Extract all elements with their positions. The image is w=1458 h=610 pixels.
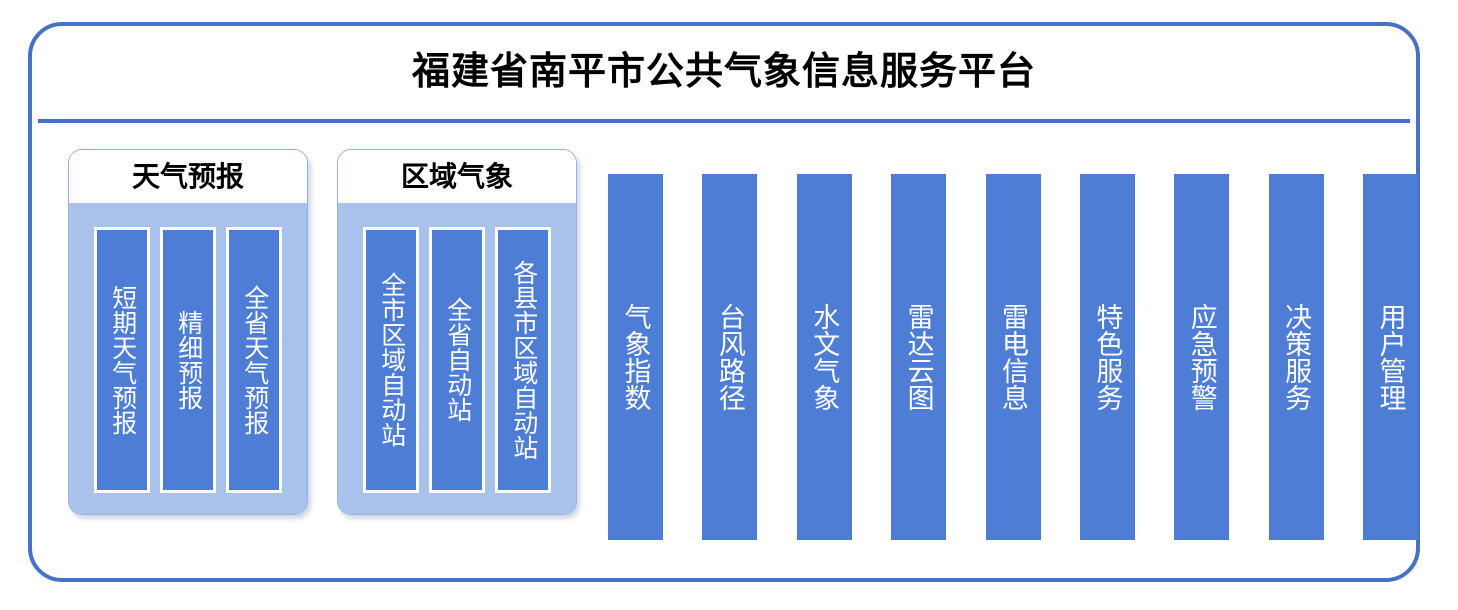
sub-module-label: 全省天气预报 [241, 285, 267, 435]
modules-row: 天气预报 短期天气预报 精细预报 全省天气预报 区域气象 全市区域自动站 [32, 123, 1416, 582]
module-bar-decision-service[interactable]: 决策服务 [1269, 174, 1324, 540]
group-body-weather-forecast: 短期天气预报 精细预报 全省天气预报 [69, 203, 307, 515]
module-label: 特色服务 [1093, 303, 1121, 411]
sub-module-label: 短期天气预报 [109, 285, 135, 435]
module-label: 决策服务 [1282, 303, 1310, 411]
module-label: 台风路径 [716, 303, 744, 411]
sub-module-county-auto-station[interactable]: 各县市区域自动站 [495, 227, 551, 493]
module-bar-user-management[interactable]: 用户管理 [1363, 174, 1418, 540]
group-body-regional-meteorology: 全市区域自动站 全省自动站 各县市区域自动站 [338, 203, 576, 515]
group-title-regional-meteorology: 区域气象 [338, 150, 576, 203]
module-bar-featured-service[interactable]: 特色服务 [1080, 174, 1135, 540]
sub-module-label: 全省自动站 [444, 297, 470, 422]
module-bar-weather-index[interactable]: 气象指数 [608, 174, 663, 540]
platform-container: 福建省南平市公共气象信息服务平台 天气预报 短期天气预报 精细预报 全省天气预报… [28, 22, 1420, 582]
sub-module-fine-forecast[interactable]: 精细预报 [160, 227, 216, 493]
module-label: 用户管理 [1376, 303, 1404, 411]
module-label: 雷达云图 [905, 303, 933, 411]
sub-module-short-term-forecast[interactable]: 短期天气预报 [94, 227, 150, 493]
sub-module-province-forecast[interactable]: 全省天气预报 [226, 227, 282, 493]
module-label: 气象指数 [621, 303, 649, 411]
module-label: 雷电信息 [999, 303, 1027, 411]
module-bar-radar-cloud-map[interactable]: 雷达云图 [891, 174, 946, 540]
sub-module-label: 精细预报 [175, 310, 201, 410]
sub-module-label: 各县市区域自动站 [510, 260, 536, 460]
sub-module-province-auto-station[interactable]: 全省自动站 [429, 227, 485, 493]
standalone-module-bars: 气象指数 台风路径 水文气象 雷达云图 雷电信息 特色服务 应急预警 决策服务 [608, 174, 1418, 540]
platform-title: 福建省南平市公共气象信息服务平台 [32, 26, 1416, 118]
module-label: 应急预警 [1188, 303, 1216, 411]
module-bar-lightning-info[interactable]: 雷电信息 [986, 174, 1041, 540]
group-card-regional-meteorology[interactable]: 区域气象 全市区域自动站 全省自动站 各县市区域自动站 [337, 149, 577, 515]
group-title-weather-forecast: 天气预报 [69, 150, 307, 203]
module-label: 水文气象 [810, 303, 838, 411]
module-bar-typhoon-path[interactable]: 台风路径 [702, 174, 757, 540]
module-bar-emergency-warning[interactable]: 应急预警 [1174, 174, 1229, 540]
module-bar-hydro-meteorology[interactable]: 水文气象 [797, 174, 852, 540]
group-card-weather-forecast[interactable]: 天气预报 短期天气预报 精细预报 全省天气预报 [68, 149, 308, 515]
sub-module-city-auto-station[interactable]: 全市区域自动站 [363, 227, 419, 493]
sub-module-label: 全市区域自动站 [378, 272, 404, 447]
